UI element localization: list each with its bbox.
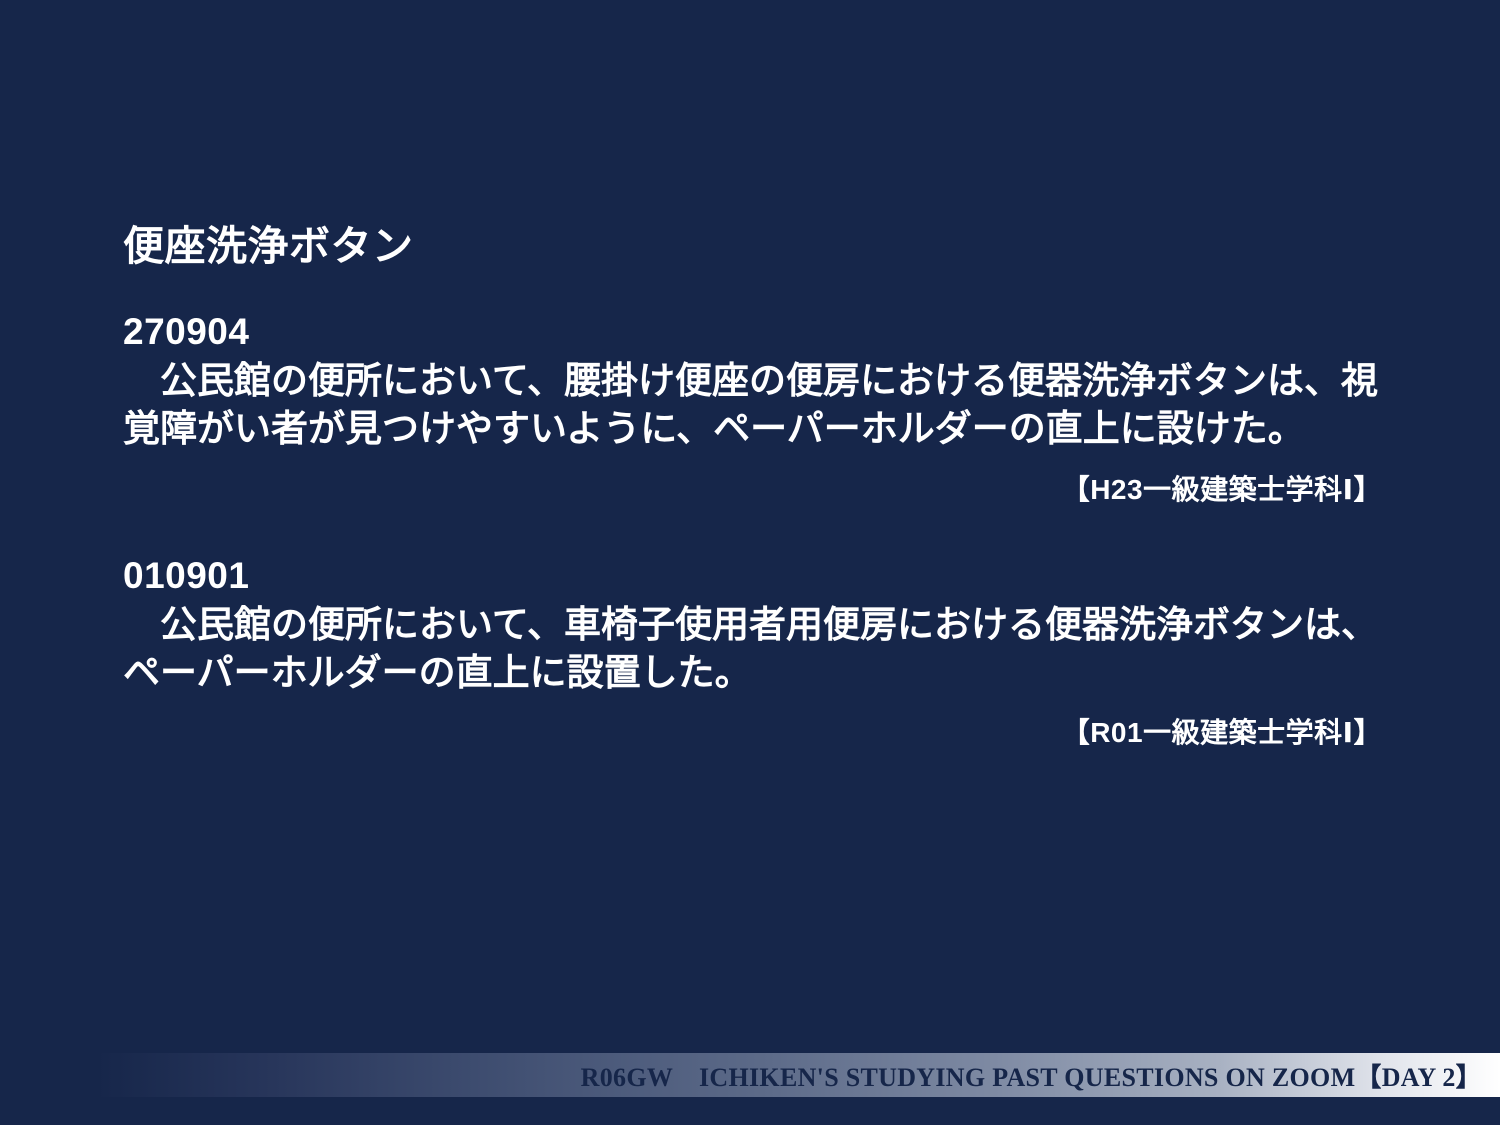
question-number: 010901 — [123, 552, 1388, 599]
question-source: 【R01一級建築士学科Ⅰ】 — [123, 711, 1388, 751]
page-title: 便座洗浄ボタン — [123, 223, 1393, 270]
question-list: 270904 公民館の便所において、腰掛け便座の便房における便器洗浄ボタンは、視… — [123, 308, 1388, 751]
question-number: 270904 — [123, 308, 1388, 355]
footer-label: R06GW ICHIKEN'S STUDYING PAST QUESTIONS … — [581, 1057, 1500, 1094]
footer-bar: R06GW ICHIKEN'S STUDYING PAST QUESTIONS … — [95, 1053, 1500, 1097]
question-source: 【H23一級建築士学科Ⅰ】 — [123, 468, 1388, 508]
question-block: 270904 公民館の便所において、腰掛け便座の便房における便器洗浄ボタンは、視… — [123, 308, 1388, 508]
slide-canvas: 便座洗浄ボタン 270904 公民館の便所において、腰掛け便座の便房における便器… — [0, 0, 1500, 1125]
question-body: 公民館の便所において、車椅子使用者用便房における便器洗浄ボタンは、ペーパーホルダ… — [123, 601, 1388, 697]
question-body: 公民館の便所において、腰掛け便座の便房における便器洗浄ボタンは、視覚障がい者が見… — [123, 357, 1388, 453]
question-block: 010901 公民館の便所において、車椅子使用者用便房における便器洗浄ボタンは、… — [123, 552, 1388, 752]
